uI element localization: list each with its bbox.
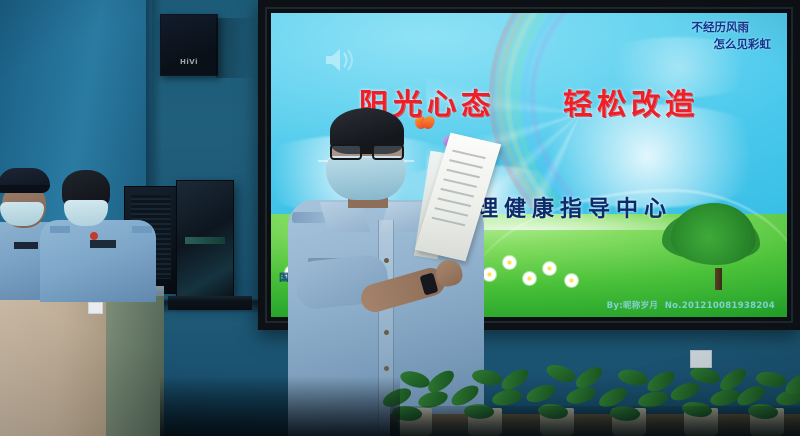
wall-speaker-brand-label: HiVi [161, 58, 217, 66]
uniform-badge [14, 242, 38, 249]
slide-center-heading: 理健康指导中心 [476, 191, 672, 223]
officer-second [48, 170, 148, 298]
eyeglasses-icon [326, 144, 410, 160]
poem-line-2: 怎么见彩虹 [692, 36, 772, 53]
wall-speaker: HiVi [160, 14, 218, 76]
tree-trunk [715, 268, 722, 290]
slide-corner-poem: 不经历风雨 怎么见彩虹 [692, 19, 772, 53]
daisy-cluster-center [477, 246, 597, 290]
plant-row [390, 344, 800, 436]
podium-side [106, 296, 164, 436]
wall-outlet-plate [690, 350, 712, 368]
floor-shadow [160, 376, 400, 436]
pc-tower-panel [185, 237, 225, 244]
face-mask [326, 156, 406, 200]
epaulette-right [132, 226, 152, 233]
wall-speaker-shadow [216, 18, 256, 78]
uniform-badge [90, 240, 116, 248]
police-cap-brim [0, 185, 50, 193]
uniform-emblem [90, 232, 98, 240]
speaker-icon [323, 45, 357, 75]
pc-tower [176, 180, 234, 300]
podium-label [88, 302, 103, 314]
poem-line-1: 不经历风雨 [692, 20, 750, 34]
epaulette-left [50, 226, 70, 233]
slide-watermark: By:昵称岁月 No.201210081938204 [607, 299, 775, 311]
screenshot-scene: HiVi [0, 0, 800, 436]
plant-row-shadow [390, 406, 800, 436]
tree-icon [670, 203, 756, 265]
